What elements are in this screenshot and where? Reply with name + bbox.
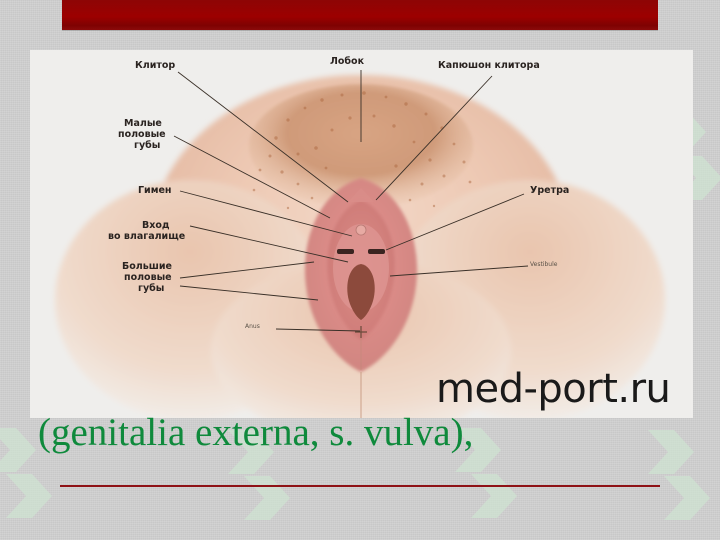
label-vaginal-entry-line2: во влагалище <box>108 231 185 242</box>
label-clitoris: Клитор <box>135 60 175 71</box>
label-mons-pubis: Лобок <box>330 56 365 67</box>
site-watermark-text: med-port.ru <box>436 366 670 412</box>
label-labia-minora-line2: половые <box>118 129 166 140</box>
anatomy-diagram: Клитор Лобок Капюшон клитора Малые полов… <box>30 50 693 418</box>
label-clitoral-hood: Капюшон клитора <box>438 60 540 71</box>
label-vaginal-entry-line1: Вход <box>142 220 170 231</box>
label-anus: Anus <box>245 323 260 330</box>
label-labia-majora-line3: губы <box>138 283 164 294</box>
slide-title-banner <box>62 0 658 30</box>
label-vestibule: Vestibule <box>530 261 558 268</box>
label-labia-minora-line3: губы <box>134 140 160 151</box>
label-labia-majora-line1: Большие <box>122 261 172 272</box>
anatomy-illustration-panel: Клитор Лобок Капюшон клитора Малые полов… <box>30 50 693 418</box>
label-labia-majora-line2: половые <box>124 272 172 283</box>
label-urethra: Уретра <box>530 185 569 196</box>
caption-underline-rule <box>60 485 660 487</box>
slide-caption: (genitalia externa, s. vulva), <box>38 412 473 455</box>
label-hymen: Гимен <box>138 185 171 196</box>
presentation-slide: Клитор Лобок Капюшон клитора Малые полов… <box>0 0 720 540</box>
label-labia-minora-line1: Малые <box>124 118 162 129</box>
